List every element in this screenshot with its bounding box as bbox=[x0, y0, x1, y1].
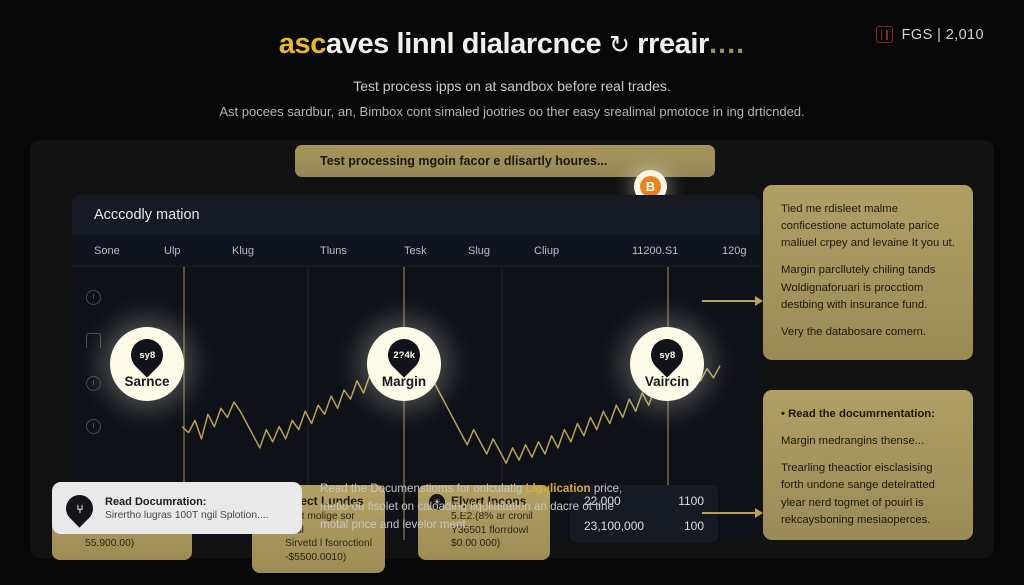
refresh-icon: ↻ bbox=[609, 31, 630, 59]
chart-marker-sarnce-value: sy8 bbox=[139, 350, 155, 361]
subtitle-secondary: Ast pocees sardbur, an, Bimbox cont sima… bbox=[0, 104, 1024, 119]
page-title: ascaves linnl dialarcnce ↻ rreair.... bbox=[0, 28, 1024, 61]
bottom-description-part1: Read the Documenstioms for onlculatlg bbox=[320, 482, 526, 495]
right-panel-bottom-p1: • Read the documrnentation: bbox=[781, 406, 955, 423]
read-documentation-title: Read Documration: bbox=[105, 496, 269, 508]
location-pin-icon: sy8 bbox=[124, 332, 169, 377]
page-title-rest: aves linnl dialarcnce bbox=[326, 28, 609, 60]
right-panel-top: Tied me rdisleet malme conficestione act… bbox=[763, 185, 973, 360]
column-label-klug: Klug bbox=[232, 245, 254, 257]
page-title-dots: .... bbox=[709, 28, 745, 60]
column-label-tesk: Tesk bbox=[404, 245, 427, 257]
right-panel-top-p1: Tied me rdisleet malme conficestione act… bbox=[781, 201, 955, 252]
bottom-description-highlight: Llgulication bbox=[526, 482, 591, 495]
chart-card-header: Acccodly mation bbox=[72, 195, 760, 235]
location-pin-icon: ⑂ bbox=[60, 489, 98, 527]
read-documentation-subtitle: Sirertho lugras 100T ngil Splotion.... bbox=[105, 510, 269, 521]
screenshot-root: FGS | 2,010 ascaves linnl dialarcnce ↻ r… bbox=[0, 0, 1024, 585]
page-title-tail: rreair bbox=[630, 28, 709, 60]
chart-column-header-row: Sone Ulp Klug Tluns Tesk Slug Cliup 1120… bbox=[72, 235, 760, 267]
info-card-elfect-lundes-line-2: Sirvetd l fsoroctionl bbox=[285, 537, 374, 551]
column-label-tluns: Tluns bbox=[320, 245, 347, 257]
right-panel-top-p3: Very the databosare comern. bbox=[781, 324, 955, 341]
column-value-price: 11200.S1 bbox=[632, 245, 678, 257]
right-panel-bottom: • Read the documrnentation: Margin medra… bbox=[763, 390, 973, 540]
chart-marker-margin-value: 2?4k bbox=[393, 350, 415, 361]
bottom-description-line2: metid ou fisolet on caloading liqulialta… bbox=[320, 498, 720, 516]
chart-marker-margin[interactable]: 2?4k Margin bbox=[367, 327, 441, 401]
right-panel-top-p2: Margin parcllutely chiling tands Woldign… bbox=[781, 262, 955, 313]
location-pin-icon: sy8 bbox=[644, 332, 689, 377]
column-label-sone: Sone bbox=[94, 245, 120, 257]
bitcoin-symbol: B bbox=[640, 176, 661, 197]
subtitle-primary: Test process ipps on at sandbox before r… bbox=[0, 78, 1024, 94]
chart-marker-sarnce[interactable]: sy8 Sarnce bbox=[110, 327, 184, 401]
column-label-cliup: Cliup bbox=[534, 245, 559, 257]
location-pin-icon: 2?4k bbox=[381, 332, 426, 377]
bottom-description-line3: motal price and levelor ment. bbox=[320, 516, 720, 534]
read-documentation-pin-symbol: ⑂ bbox=[76, 501, 83, 515]
processing-banner-label: Test processing mgoin facor e dlisartly … bbox=[320, 154, 607, 168]
arrow-to-top-panel bbox=[702, 300, 762, 302]
column-label-slug: Slug bbox=[468, 245, 490, 257]
chart-marker-vaircin-value: sy8 bbox=[659, 350, 675, 361]
read-documentation-card[interactable]: ⑂ Read Documration: Sirertho lugras 100T… bbox=[52, 482, 302, 534]
chart-card-title: Acccodly mation bbox=[94, 207, 200, 223]
bottom-description-part2: price, bbox=[591, 482, 623, 495]
main-stage: Test processing mgoin facor e dlisartly … bbox=[30, 140, 994, 558]
info-card-elyert-incons-line-3: $0.00 000) bbox=[451, 537, 539, 551]
column-label-ulp: Ulp bbox=[164, 245, 181, 257]
page-title-gold: asc bbox=[279, 28, 326, 60]
bottom-description: Read the Documenstioms for onlculatlg Ll… bbox=[320, 480, 720, 534]
right-panel-bottom-p2: Margin medrangins thense... bbox=[781, 433, 955, 450]
info-card-elfect-lundes-line-3: -$5500.0010) bbox=[285, 551, 374, 565]
right-panel-bottom-p3: Trearling theactior eisclasising forth u… bbox=[781, 460, 955, 529]
column-value-size: 120g bbox=[722, 245, 746, 257]
chart-marker-vaircin[interactable]: sy8 Vaircin bbox=[630, 327, 704, 401]
info-card-margin-modus-line-3: 55.900.00) bbox=[85, 537, 181, 551]
